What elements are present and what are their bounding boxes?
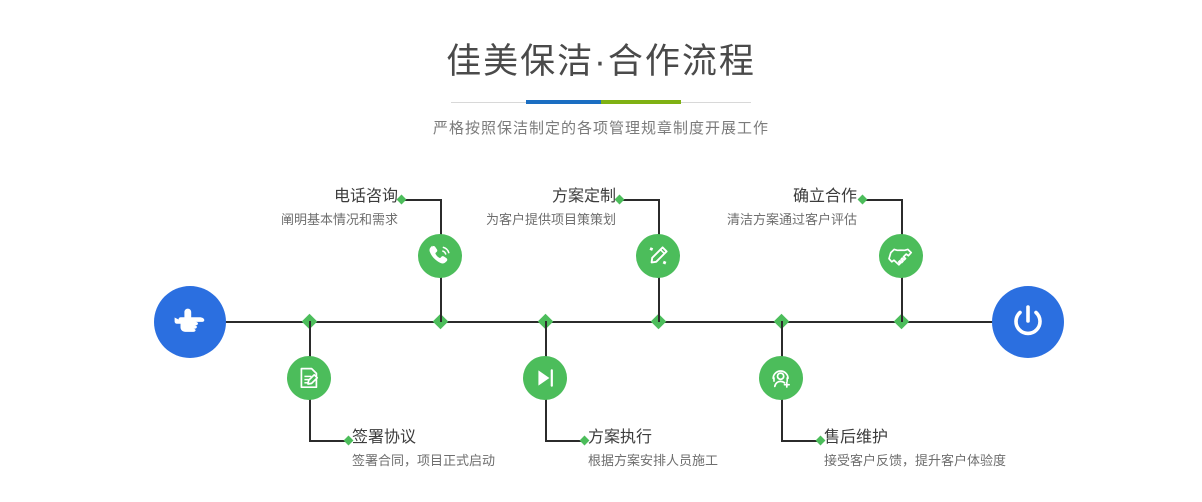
- divider-blue-segment: [526, 100, 601, 104]
- step-label-below-2: 售后维护 接受客户反馈，提升客户体验度: [824, 427, 1006, 471]
- step-label-above-0: 电话咨询 阐明基本情况和需求: [248, 186, 398, 230]
- step-label-below-1: 方案执行 根据方案安排人员施工: [588, 427, 718, 471]
- power-icon: [1007, 301, 1049, 343]
- step-icon-customer-support[interactable]: [759, 356, 803, 400]
- step-title: 方案定制: [458, 186, 616, 208]
- connector-horizontal: [402, 199, 442, 201]
- page-subtitle: 严格按照保洁制定的各项管理规章制度开展工作: [0, 117, 1202, 138]
- step-desc: 为客户提供项目策策划: [458, 210, 616, 230]
- page-title: 佳美保洁·合作流程: [0, 40, 1202, 84]
- label-diamond-node: [858, 195, 868, 205]
- step-title: 售后维护: [824, 427, 1006, 449]
- step-desc: 清洁方案通过客户评估: [706, 210, 857, 230]
- step-title: 签署协议: [352, 427, 495, 449]
- label-diamond-node: [397, 195, 407, 205]
- connector-horizontal: [863, 199, 903, 201]
- label-diamond-node: [615, 195, 625, 205]
- step-label-below-0: 签署协议 签署合同，项目正式启动: [352, 427, 495, 471]
- flow-diagram-page: 佳美保洁·合作流程 严格按照保洁制定的各项管理规章制度开展工作: [0, 0, 1202, 502]
- step-title: 电话咨询: [248, 186, 398, 208]
- handshake-icon: [888, 243, 914, 269]
- step-icon-handshake[interactable]: [879, 234, 923, 278]
- step-desc: 阐明基本情况和需求: [248, 210, 398, 230]
- step-label-above-2: 确立合作 清洁方案通过客户评估: [706, 186, 857, 230]
- step-label-above-1: 方案定制 为客户提供项目策策划: [458, 186, 616, 230]
- step-title: 确立合作: [706, 186, 857, 208]
- play-execute-icon: [532, 365, 558, 391]
- title-divider: [451, 98, 751, 107]
- pointing-hand-icon: [170, 302, 210, 342]
- step-icon-pencil-design[interactable]: [636, 234, 680, 278]
- timeline-end-node[interactable]: [992, 286, 1064, 358]
- phone-call-icon: [427, 243, 453, 269]
- step-title: 方案执行: [588, 427, 718, 449]
- page-header: 佳美保洁·合作流程 严格按照保洁制定的各项管理规章制度开展工作: [0, 0, 1202, 138]
- step-desc: 根据方案安排人员施工: [588, 451, 718, 471]
- step-icon-play-execute[interactable]: [523, 356, 567, 400]
- pencil-design-icon: [645, 243, 671, 269]
- connector-horizontal: [620, 199, 660, 201]
- divider-green-segment: [601, 100, 681, 104]
- step-desc: 接受客户反馈，提升客户体验度: [824, 451, 1006, 471]
- sign-document-icon: [296, 365, 322, 391]
- customer-support-icon: [768, 365, 794, 391]
- step-desc: 签署合同，项目正式启动: [352, 451, 495, 471]
- step-icon-sign-document[interactable]: [287, 356, 331, 400]
- step-icon-phone-call[interactable]: [418, 234, 462, 278]
- timeline-start-node[interactable]: [154, 286, 226, 358]
